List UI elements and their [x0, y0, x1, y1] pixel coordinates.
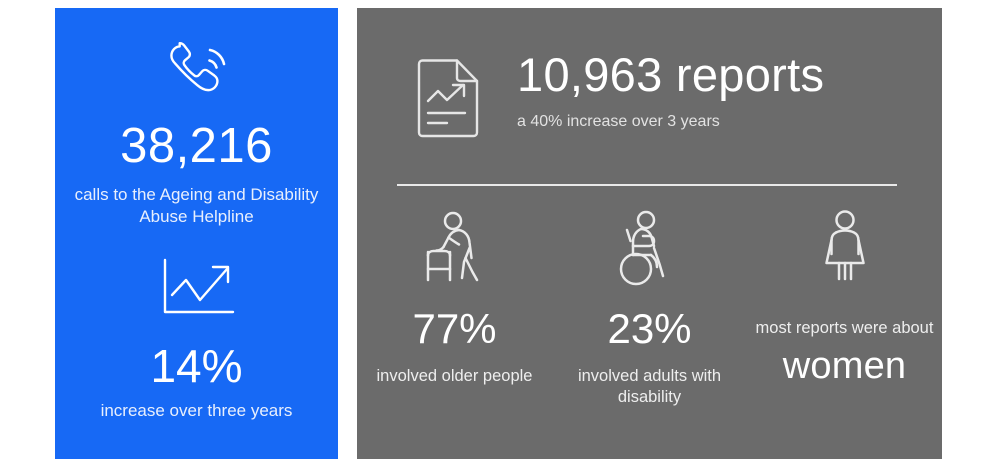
- reports-breakdown-columns: 77% involved older people: [357, 206, 942, 409]
- disability-caption: involved adults with disability: [558, 366, 741, 409]
- line-chart-trend-up-icon: [155, 255, 239, 321]
- breakdown-column-disability: 23% involved adults with disability: [552, 206, 747, 409]
- women-caption: most reports were about: [756, 318, 934, 339]
- older-people-stat: 77%: [412, 308, 496, 350]
- helpline-increase-stat: 14%: [150, 343, 242, 389]
- phone-call-icon: [158, 30, 236, 108]
- reports-headline: 10,963 reports: [517, 50, 824, 99]
- helpline-calls-stat: 38,216: [120, 122, 273, 171]
- older-people-caption: involved older people: [377, 366, 533, 387]
- breakdown-column-older-people: 77% involved older people: [357, 206, 552, 409]
- reports-summary-text: 10,963 reports a 40% increase over 3 yea…: [517, 50, 824, 131]
- reports-summary-row: 10,963 reports a 40% increase over 3 yea…: [357, 50, 942, 140]
- reports-panel: 10,963 reports a 40% increase over 3 yea…: [357, 8, 942, 459]
- section-divider: [397, 184, 897, 186]
- helpline-calls-panel: 38,216 calls to the Ageing and Disabilit…: [55, 8, 338, 459]
- disability-stat: 23%: [607, 308, 691, 350]
- document-chart-icon: [415, 58, 481, 140]
- breakdown-column-women: most reports were about women: [747, 206, 942, 409]
- woman-figure-icon: [802, 206, 888, 292]
- women-word: women: [783, 347, 907, 385]
- infographic-canvas: 38,216 calls to the Ageing and Disabilit…: [0, 0, 1000, 468]
- helpline-calls-caption: calls to the Ageing and Disability Abuse…: [72, 184, 322, 229]
- wheelchair-person-icon: [607, 206, 693, 292]
- helpline-increase-caption: increase over three years: [67, 401, 327, 421]
- elderly-person-walker-icon: [412, 206, 498, 292]
- reports-subline: a 40% increase over 3 years: [517, 113, 824, 131]
